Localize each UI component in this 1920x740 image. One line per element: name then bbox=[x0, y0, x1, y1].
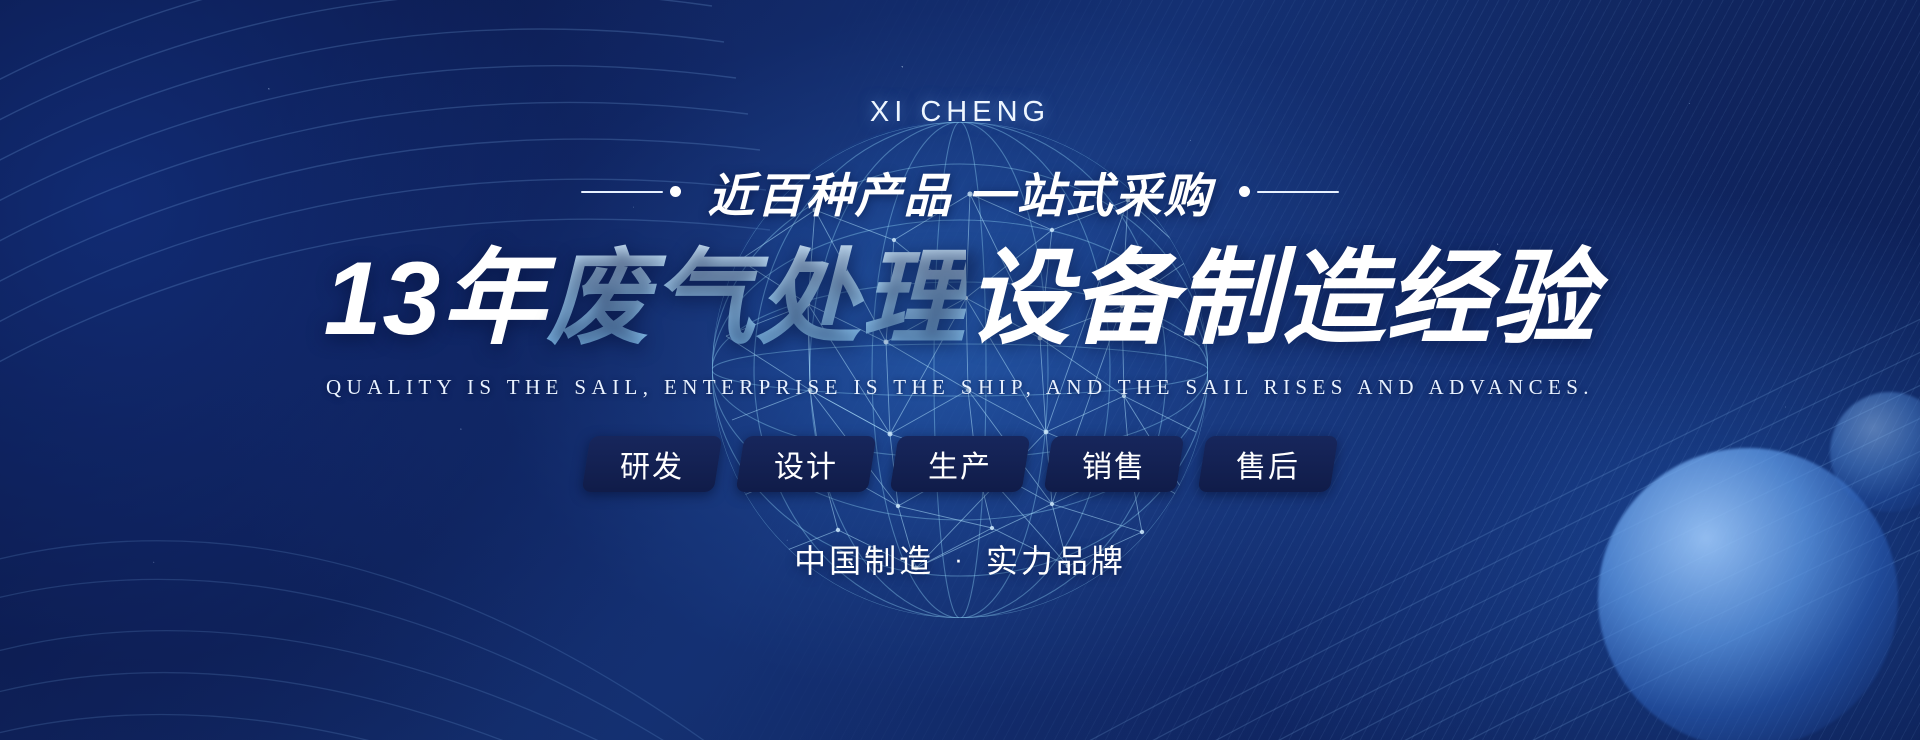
ornament-left bbox=[581, 186, 681, 197]
service-tag-rd[interactable]: 研发 bbox=[582, 436, 723, 492]
service-tag-label: 设计 bbox=[774, 442, 838, 486]
brand-name-en: XI CHENG bbox=[870, 96, 1050, 129]
headline-part-years: 13年 bbox=[324, 241, 547, 357]
service-tag-label: 研发 bbox=[620, 442, 684, 486]
service-tag-design[interactable]: 设计 bbox=[736, 436, 877, 492]
ornament-bar-left bbox=[581, 191, 663, 193]
hero-banner: XI CHENG 近百种产品 一站式采购 13年废气处理设备制造经验 QUALI… bbox=[0, 0, 1920, 740]
banner-footer-line: 中国制造 · 实力品牌 bbox=[794, 536, 1126, 582]
ornament-dot-left bbox=[670, 186, 681, 197]
headline-part-tail: 设备制造经验 bbox=[966, 241, 1596, 357]
banner-subtitle: 近百种产品 一站式采购 bbox=[707, 157, 1212, 226]
ornament-dot-right bbox=[1239, 186, 1250, 197]
banner-headline: 13年废气处理设备制造经验 bbox=[324, 240, 1597, 359]
service-tag-label: 售后 bbox=[1236, 442, 1300, 486]
footer-text-right: 实力品牌 bbox=[986, 536, 1126, 582]
footer-separator-dot: · bbox=[954, 546, 966, 572]
ornament-right bbox=[1239, 186, 1339, 197]
subtitle-row: 近百种产品 一站式采购 bbox=[581, 157, 1338, 226]
service-tag-aftersales[interactable]: 售后 bbox=[1198, 436, 1339, 492]
service-tag-list: 研发 设计 生产 销售 售后 bbox=[586, 436, 1334, 492]
banner-content: XI CHENG 近百种产品 一站式采购 13年废气处理设备制造经验 QUALI… bbox=[0, 0, 1920, 740]
footer-text-left: 中国制造 bbox=[794, 536, 934, 582]
service-tag-sales[interactable]: 销售 bbox=[1044, 436, 1185, 492]
service-tag-production[interactable]: 生产 bbox=[890, 436, 1031, 492]
service-tag-label: 生产 bbox=[928, 442, 992, 486]
ornament-bar-right bbox=[1257, 191, 1339, 193]
service-tag-label: 销售 bbox=[1082, 442, 1146, 486]
headline-part-highlight: 废气处理 bbox=[546, 241, 966, 357]
tagline-en: QUALITY IS THE SAIL, ENTERPRISE IS THE S… bbox=[326, 375, 1594, 400]
